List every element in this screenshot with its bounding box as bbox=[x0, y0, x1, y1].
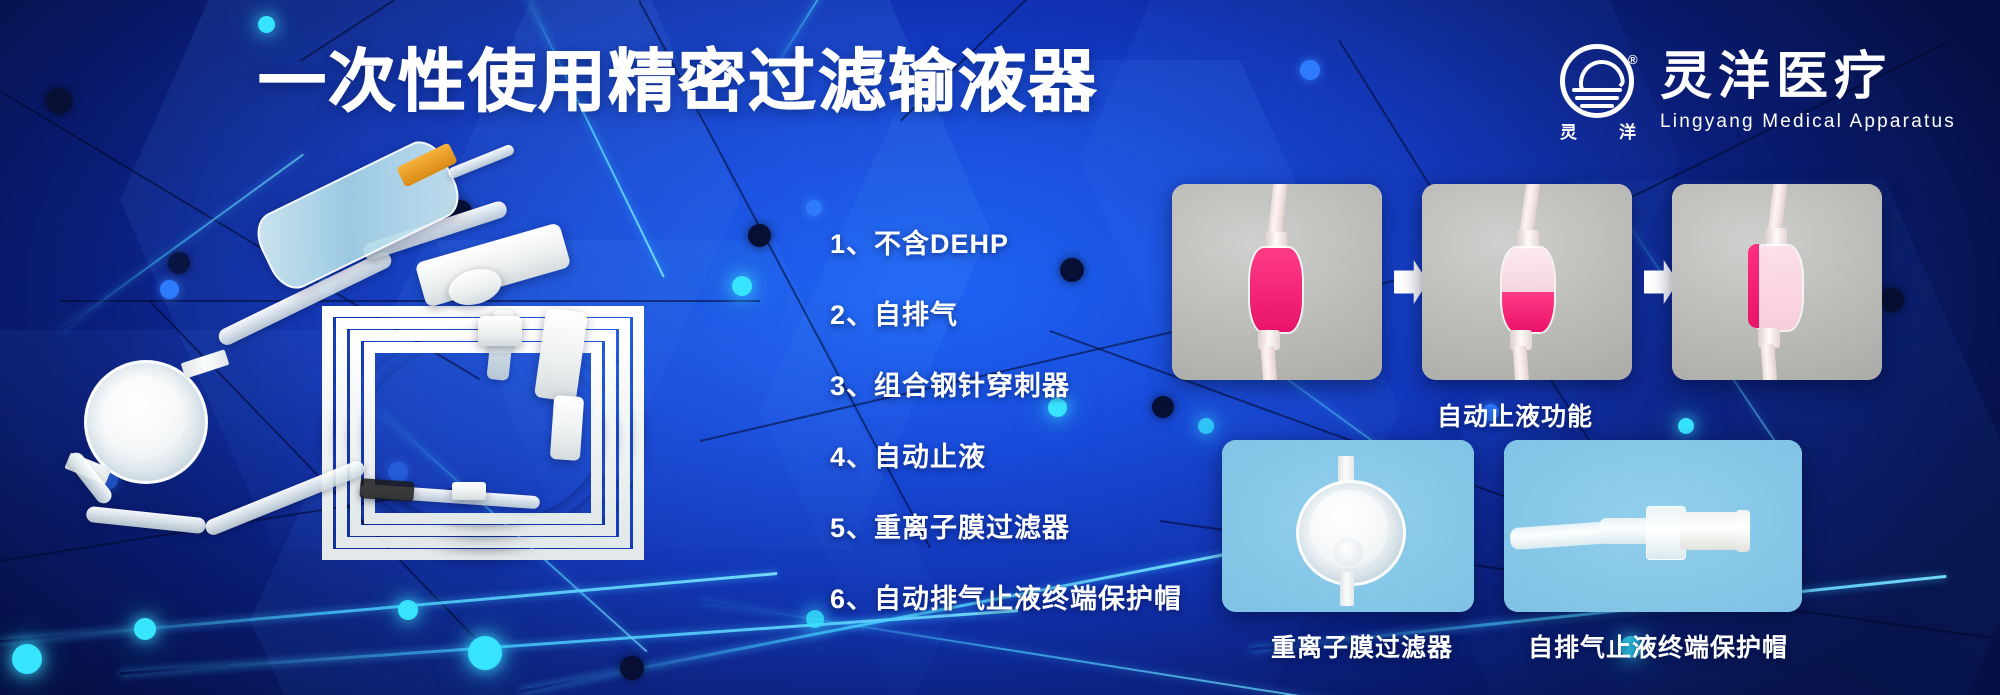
brand-name-cn: 灵洋医疗 bbox=[1660, 51, 1956, 103]
page-title: 一次性使用精密过滤输液器 bbox=[258, 48, 1098, 116]
feature-item: 6、自动排气止液终端保护帽 bbox=[830, 577, 1182, 616]
feature-item: 5、重离子膜过滤器 bbox=[830, 506, 1182, 545]
caption-auto-stop: 自动止液功能 bbox=[1437, 397, 1593, 433]
emblem-wave-icon bbox=[1572, 88, 1622, 92]
registered-trademark-mark: ® bbox=[1628, 52, 1638, 67]
filter-chamber bbox=[1248, 246, 1304, 334]
emblem-wave-icon bbox=[1580, 104, 1614, 108]
product-photo-infusion-set bbox=[60, 160, 760, 560]
emblem-subtext: 灵 洋 bbox=[1556, 118, 1640, 143]
brand-logo: ® 灵 洋 灵洋医疗 Lingyang Medical Apparatus bbox=[1556, 44, 1956, 140]
protective-cap bbox=[1680, 512, 1742, 550]
emblem-char-right: 洋 bbox=[1619, 118, 1636, 143]
feature-item: 3、组合钢针穿刺器 bbox=[830, 364, 1182, 403]
brand-name-en: Lingyang Medical Apparatus bbox=[1660, 111, 1956, 133]
caption-membrane-filter: 重离子膜过滤器 bbox=[1271, 628, 1453, 664]
chamber-fluid bbox=[1502, 292, 1554, 332]
filter-chamber bbox=[1500, 246, 1556, 334]
photo-auto-stop-step-2 bbox=[1422, 184, 1632, 380]
feature-item: 2、自排气 bbox=[830, 293, 1182, 332]
photo-auto-stop-step-3 bbox=[1672, 184, 1882, 380]
emblem-char-left: 灵 bbox=[1560, 118, 1577, 143]
product-banner: 一次性使用精密过滤输液器 ® 灵 洋 灵洋医疗 Lingyang Medical… bbox=[0, 0, 2000, 695]
photo-terminal-protective-cap bbox=[1504, 440, 1802, 612]
chamber-fluid bbox=[1250, 248, 1302, 332]
feature-item: 1、不含DEHP bbox=[830, 222, 1182, 261]
logo-emblem-icon: ® 灵 洋 bbox=[1556, 44, 1640, 140]
chamber-air bbox=[1502, 248, 1554, 292]
caption-protective-cap: 自排气止液终端保护帽 bbox=[1528, 628, 1788, 664]
photo-membrane-filter bbox=[1222, 440, 1474, 612]
feature-item: 4、自动止液 bbox=[830, 435, 1182, 474]
photo-auto-stop-step-1 bbox=[1172, 184, 1382, 380]
feature-list: 1、不含DEHP 2、自排气 3、组合钢针穿刺器 4、自动止液 5、重离子膜过滤… bbox=[830, 222, 1182, 616]
emblem-wave-icon bbox=[1575, 96, 1619, 100]
brand-text: 灵洋医疗 Lingyang Medical Apparatus bbox=[1660, 51, 1956, 133]
